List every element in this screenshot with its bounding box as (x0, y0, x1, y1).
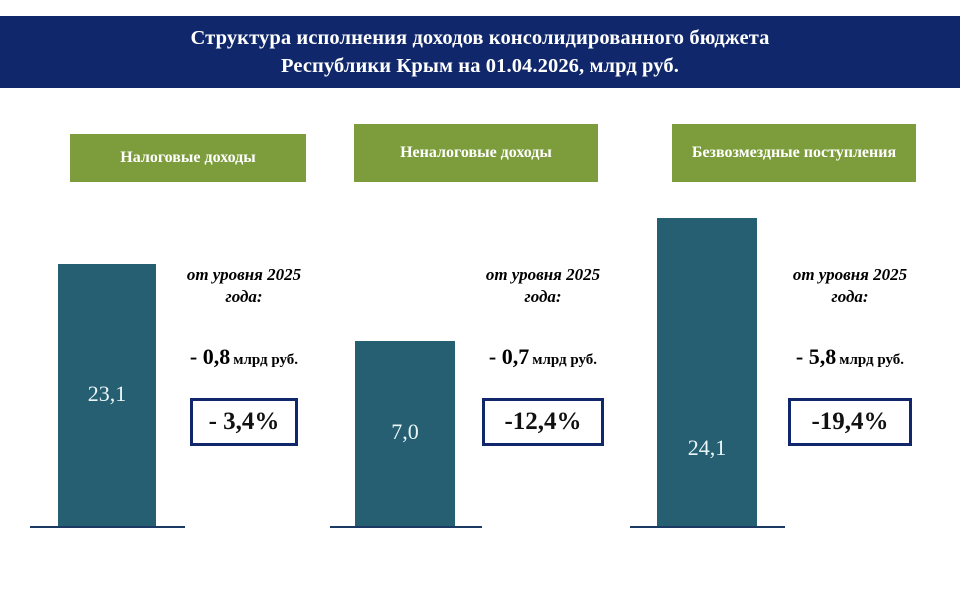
title-line-2: Республики Крым на 01.04.2026, млрд руб. (281, 52, 679, 80)
percent-change-value: -19,4% (811, 408, 888, 436)
bar-baseline (330, 526, 482, 528)
annotation-caption: от уровня 2025 года: (168, 264, 320, 308)
annotation-delta: - 5,8млрд руб. (770, 344, 930, 370)
annotation-caption: от уровня 2025 года: (770, 264, 930, 308)
category-group-nontax-revenues: Неналоговые доходы 7,0 от уровня 2025 го… (330, 88, 630, 600)
annotation-delta-unit: млрд руб. (532, 352, 597, 368)
bar-nontax-revenues: 7,0 (355, 341, 455, 527)
title-banner: Структура исполнения доходов консолидиро… (0, 16, 960, 88)
percent-change-box: -12,4% (482, 398, 604, 446)
annotation-caption-line-1: от уровня 2025 (770, 264, 930, 286)
annotation-delta-value: - 5,8 (796, 344, 836, 369)
bar-value-label: 23,1 (88, 381, 127, 407)
bar-baseline (630, 526, 785, 528)
category-group-tax-revenues: Налоговые доходы 23,1 от уровня 2025 год… (0, 88, 330, 600)
category-header-gratuitous-receipts: Безвозмездные поступления (672, 124, 916, 182)
percent-change-box: -19,4% (788, 398, 912, 446)
bar-value-label: 24,1 (688, 435, 727, 461)
title-line-1: Структура исполнения доходов консолидиро… (191, 24, 770, 52)
percent-change-value: -12,4% (504, 408, 581, 436)
bar-tax-revenues: 23,1 (58, 264, 156, 527)
bar-chart: Налоговые доходы 23,1 от уровня 2025 год… (0, 88, 960, 600)
annotation-gratuitous-receipts: от уровня 2025 года: - 5,8млрд руб. -19,… (770, 264, 930, 446)
category-group-gratuitous-receipts: Безвозмездные поступления 24,1 от уровня… (630, 88, 960, 600)
annotation-delta: - 0,8млрд руб. (168, 344, 320, 370)
category-header-label: Безвозмездные поступления (692, 143, 896, 163)
annotation-delta-unit: млрд руб. (233, 352, 298, 368)
category-header-tax-revenues: Налоговые доходы (70, 134, 306, 182)
annotation-caption-line-1: от уровня 2025 (467, 264, 619, 286)
annotation-delta-unit: млрд руб. (839, 352, 904, 368)
annotation-caption-line-2: года: (770, 286, 930, 308)
category-header-label: Неналоговые доходы (400, 143, 552, 163)
annotation-caption-line-2: года: (467, 286, 619, 308)
bar-value-label: 7,0 (391, 419, 419, 445)
bar-baseline (30, 526, 185, 528)
category-header-label: Налоговые доходы (120, 148, 255, 168)
annotation-nontax-revenues: от уровня 2025 года: - 0,7млрд руб. -12,… (467, 264, 619, 446)
annotation-delta: - 0,7млрд руб. (467, 344, 619, 370)
bar-gratuitous-receipts: 24,1 (657, 218, 757, 527)
percent-change-box: - 3,4% (190, 398, 298, 446)
annotation-tax-revenues: от уровня 2025 года: - 0,8млрд руб. - 3,… (168, 264, 320, 446)
annotation-caption-line-2: года: (168, 286, 320, 308)
annotation-delta-value: - 0,7 (489, 344, 529, 369)
category-header-nontax-revenues: Неналоговые доходы (354, 124, 598, 182)
percent-change-value: - 3,4% (209, 408, 280, 436)
annotation-caption-line-1: от уровня 2025 (168, 264, 320, 286)
annotation-delta-value: - 0,8 (190, 344, 230, 369)
annotation-caption: от уровня 2025 года: (467, 264, 619, 308)
